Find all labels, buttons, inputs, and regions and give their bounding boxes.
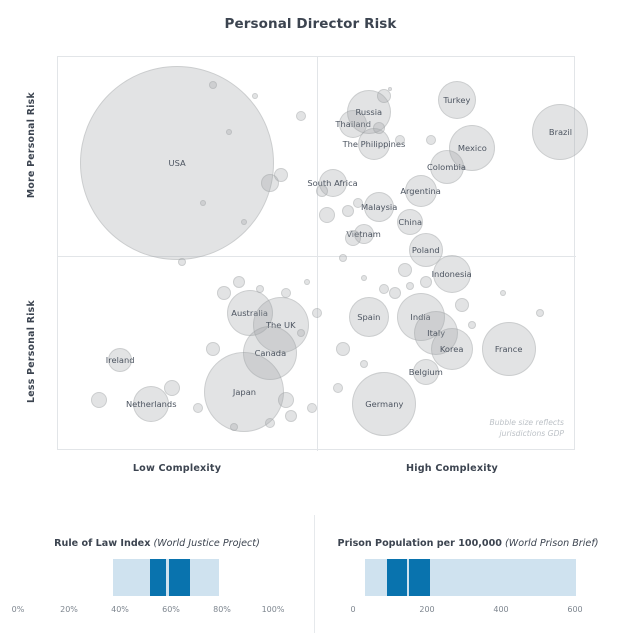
legend-rule-of-law[interactable]: Rule of Law Index (World Justice Project…: [0, 520, 314, 640]
legend-title-source: (World Justice Project): [153, 538, 259, 549]
bubble-chart-plot[interactable]: USAThailandThe PhilippinesSouth AfricaRu…: [57, 56, 575, 450]
bubble-unlabeled[interactable]: [200, 200, 206, 206]
bubble-unlabeled[interactable]: [296, 111, 306, 121]
bubble-unlabeled[interactable]: [319, 207, 335, 223]
bubble-unlabeled[interactable]: [379, 284, 389, 294]
bubble-unlabeled[interactable]: [307, 403, 317, 413]
bubble-spain[interactable]: [349, 297, 389, 337]
x-axis-label-high: High Complexity: [406, 463, 498, 474]
legend-tick: 0: [350, 605, 355, 614]
bubble-korea[interactable]: [431, 328, 473, 370]
bubble-unlabeled[interactable]: [339, 254, 347, 262]
legend-tick: 40%: [111, 605, 129, 614]
legend-title-bold: Prison Population per 100,000: [338, 538, 502, 549]
bubble-unlabeled[interactable]: [226, 129, 232, 135]
x-axis-label-low: Low Complexity: [133, 463, 221, 474]
legend-title: Prison Population per 100,000 (World Pri…: [315, 538, 621, 549]
legend-tick: 400: [493, 605, 508, 614]
legend-title-bold: Rule of Law Index: [54, 538, 150, 549]
legend-range-dark-1[interactable]: [387, 559, 407, 596]
bubble-france[interactable]: [482, 322, 536, 376]
bubble-unlabeled[interactable]: [274, 168, 288, 182]
bubble-unlabeled[interactable]: [389, 287, 401, 299]
y-axis-label-bottom: Less Personal Risk: [26, 300, 37, 403]
bubble-unlabeled[interactable]: [455, 298, 469, 312]
bubble-argentina[interactable]: [405, 175, 437, 207]
page-title: Personal Director Risk: [0, 16, 621, 32]
bubble-unlabeled[interactable]: [178, 258, 186, 266]
bubble-unlabeled[interactable]: [342, 205, 354, 217]
bubble-indonesia[interactable]: [433, 255, 471, 293]
bubble-unlabeled[interactable]: [426, 135, 436, 145]
bubble-unlabeled[interactable]: [285, 410, 297, 422]
bubble-belgium[interactable]: [413, 359, 439, 385]
legend-tick: 60%: [162, 605, 180, 614]
bubble-unlabeled[interactable]: [361, 275, 367, 281]
legend-tick: 200: [419, 605, 434, 614]
bubble-unlabeled[interactable]: [420, 276, 432, 288]
legend-range-dark-2[interactable]: [169, 559, 190, 596]
bubble-unlabeled[interactable]: [91, 392, 107, 408]
bubble-unlabeled[interactable]: [360, 360, 368, 368]
bubble-unlabeled[interactable]: [336, 342, 350, 356]
legend-tick-row: 0200400600: [315, 605, 621, 625]
bubble-unlabeled[interactable]: [233, 276, 245, 288]
bubble-unlabeled[interactable]: [345, 230, 361, 246]
bubble-unlabeled[interactable]: [304, 279, 310, 285]
bubble-ireland[interactable]: [108, 348, 132, 372]
bubble-unlabeled[interactable]: [209, 81, 217, 89]
bubble-unlabeled[interactable]: [281, 288, 291, 298]
legend-tick-row: 0%20%40%60%80%100%: [0, 605, 314, 625]
bubble-size-note: Bubble size reflectsjurisdictions GDP: [490, 417, 564, 439]
legend-scale-bar[interactable]: [0, 559, 314, 605]
bubble-unlabeled[interactable]: [265, 418, 275, 428]
bubble-unlabeled[interactable]: [164, 380, 180, 396]
bubble-unlabeled[interactable]: [377, 89, 391, 103]
legend-tick: 600: [567, 605, 582, 614]
bubble-unlabeled[interactable]: [193, 403, 203, 413]
bubble-unlabeled[interactable]: [388, 87, 392, 91]
bubble-unlabeled[interactable]: [398, 263, 412, 277]
bubble-unlabeled[interactable]: [536, 309, 544, 317]
legend-scale-bar[interactable]: [315, 559, 621, 605]
bubble-usa[interactable]: [80, 66, 274, 260]
bubble-unlabeled[interactable]: [252, 93, 258, 99]
bubble-china[interactable]: [397, 209, 423, 235]
bubble-unlabeled[interactable]: [278, 392, 294, 408]
bubble-unlabeled[interactable]: [468, 321, 476, 329]
bubble-unlabeled[interactable]: [353, 198, 363, 208]
y-axis-label-top: More Personal Risk: [26, 92, 37, 198]
bubble-unlabeled[interactable]: [395, 135, 405, 145]
quadrant-horizontal-divider: [58, 256, 576, 257]
bubble-unlabeled[interactable]: [406, 282, 414, 290]
legend-range-dark-1[interactable]: [150, 559, 166, 596]
bubble-unlabeled[interactable]: [312, 308, 322, 318]
legend-title-source: (World Prison Brief): [505, 538, 598, 549]
bubble-germany[interactable]: [352, 372, 416, 436]
quadrant-vertical-divider: [317, 57, 318, 451]
bubble-brazil[interactable]: [532, 104, 588, 160]
legend-tick: 20%: [60, 605, 78, 614]
bubble-malaysia[interactable]: [364, 192, 394, 222]
bubble-unlabeled[interactable]: [500, 290, 506, 296]
legend-prison-population[interactable]: Prison Population per 100,000 (World Pri…: [315, 520, 621, 640]
legend-tick: 100%: [262, 605, 285, 614]
bubble-unlabeled[interactable]: [256, 285, 264, 293]
bubble-unlabeled[interactable]: [217, 286, 231, 300]
legend-tick: 0%: [12, 605, 25, 614]
bubble-unlabeled[interactable]: [373, 122, 385, 134]
legend-range-dark-2[interactable]: [409, 559, 430, 596]
legend-title: Rule of Law Index (World Justice Project…: [0, 538, 314, 549]
bubble-unlabeled[interactable]: [333, 383, 343, 393]
bubble-unlabeled[interactable]: [206, 342, 220, 356]
legend-tick: 80%: [213, 605, 231, 614]
bubble-colombia[interactable]: [430, 150, 464, 184]
bubble-turkey[interactable]: [438, 81, 476, 119]
